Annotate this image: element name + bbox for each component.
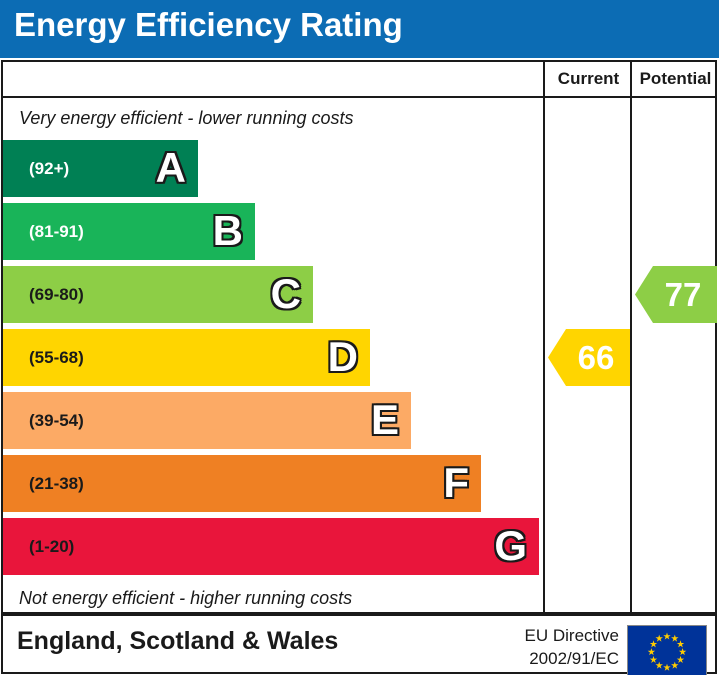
column-header-current: Current (545, 69, 632, 89)
energy-efficiency-rating-chart: Energy Efficiency Rating Current Potenti… (0, 0, 719, 675)
footer-directive-line1: EU Directive (525, 625, 619, 648)
potential-rating-arrow-value: 77 (651, 278, 702, 311)
band-letter-d: D (328, 336, 358, 378)
chart-footer: England, Scotland & Wales EU Directive 2… (1, 614, 717, 674)
band-bar-c: (69-80)C (3, 266, 313, 323)
band-letter-e: E (371, 399, 399, 441)
band-letter-f: F (443, 462, 469, 504)
band-range-c: (69-80) (29, 285, 84, 305)
band-range-d: (55-68) (29, 348, 84, 368)
footer-directive-line2: 2002/91/EC (525, 648, 619, 671)
band-bar-f: (21-38)F (3, 455, 481, 512)
band-bar-g: (1-20)G (3, 518, 539, 575)
eu-flag-stars (628, 626, 706, 675)
band-range-b: (81-91) (29, 222, 84, 242)
divider-potential (630, 62, 632, 612)
footer-region: England, Scotland & Wales (17, 627, 338, 656)
caption-inefficient: Not energy efficient - higher running co… (19, 588, 352, 609)
band-bar-a: (92+)A (3, 140, 198, 197)
band-bar-e: (39-54)E (3, 392, 411, 449)
band-letter-g: G (494, 525, 527, 567)
potential-rating-arrow: 77 (635, 266, 717, 323)
caption-efficient: Very energy efficient - lower running co… (19, 108, 354, 129)
band-bar-b: (81-91)B (3, 203, 255, 260)
band-range-g: (1-20) (29, 537, 74, 557)
band-bars: (92+)A(81-91)B(69-80)C(55-68)D(39-54)E(2… (3, 140, 541, 580)
chart-title-bar: Energy Efficiency Rating (0, 0, 719, 58)
chart-body: Current Potential Very energy efficient … (1, 60, 717, 614)
current-rating-arrow-value: 66 (564, 341, 615, 374)
band-letter-b: B (213, 210, 243, 252)
band-letter-c: C (271, 273, 301, 315)
band-range-e: (39-54) (29, 411, 84, 431)
column-header-potential: Potential (632, 69, 719, 89)
band-bar-d: (55-68)D (3, 329, 370, 386)
footer-directive: EU Directive 2002/91/EC (525, 625, 619, 671)
page-title: Energy Efficiency Rating (14, 6, 403, 44)
band-range-a: (92+) (29, 159, 69, 179)
divider-current (543, 62, 545, 612)
current-rating-arrow: 66 (548, 329, 630, 386)
band-letter-a: A (156, 147, 186, 189)
band-range-f: (21-38) (29, 474, 84, 494)
eu-flag-icon (627, 625, 707, 675)
